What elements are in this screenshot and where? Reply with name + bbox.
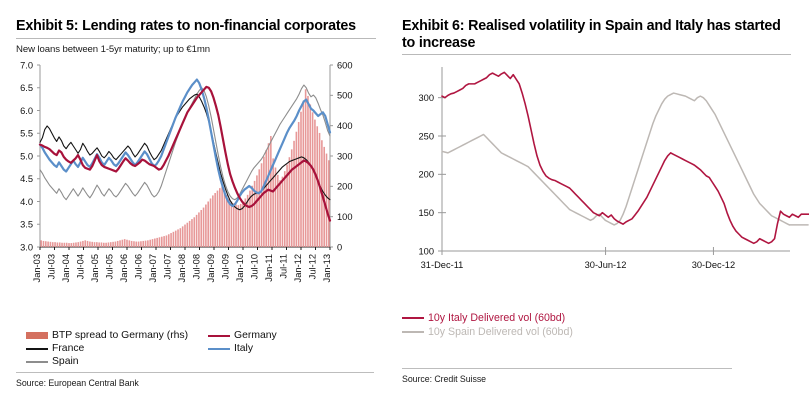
- svg-text:Jul-05: Jul-05: [105, 254, 115, 279]
- legend-swatch-germany: [208, 335, 230, 337]
- svg-text:200: 200: [418, 170, 434, 180]
- legend-swatch-spain-vol: [402, 331, 424, 333]
- legend-label-italy: Italy: [234, 343, 253, 354]
- svg-text:Jan-06: Jan-06: [119, 254, 129, 282]
- svg-text:Jan-10: Jan-10: [235, 254, 245, 282]
- exhibit-5-subtitle: New loans between 1-5yr maturity; up to …: [16, 44, 376, 55]
- svg-text:7.0: 7.0: [20, 60, 33, 70]
- legend-item-btp-spread: BTP spread to Germany (rhs): [26, 330, 208, 341]
- svg-text:Jul-09: Jul-09: [221, 254, 231, 279]
- svg-text:600: 600: [337, 60, 353, 70]
- panel-exhibit-5: Exhibit 5: Lending rates to non-financia…: [0, 0, 390, 401]
- svg-text:Jan-09: Jan-09: [206, 254, 216, 282]
- svg-text:Jul-04: Jul-04: [76, 254, 86, 279]
- legend-item-italy: Italy: [208, 343, 277, 354]
- exhibit-6-svg: 10015020025030031-Dec-1130-Jun-1230-Dec-…: [390, 55, 809, 305]
- svg-text:Jan-11: Jan-11: [264, 254, 274, 282]
- svg-text:0: 0: [337, 242, 342, 252]
- svg-text:3.5: 3.5: [20, 219, 33, 229]
- legend-label-germany: Germany: [234, 330, 277, 341]
- exhibit-6-legend: 10y Italy Delivered vol (60bd) 10y Spain…: [402, 312, 573, 340]
- exhibit-5-source-block: Source: European Central Bank: [16, 372, 374, 388]
- legend-item-italy-vol: 10y Italy Delivered vol (60bd): [402, 312, 573, 324]
- exhibit-5-chart: 3.03.54.04.55.05.56.06.57.00100200300400…: [0, 55, 390, 295]
- exhibit-5-svg: 3.03.54.04.55.05.56.06.57.00100200300400…: [0, 55, 390, 295]
- svg-text:400: 400: [337, 121, 353, 131]
- legend-item-france: France: [26, 343, 208, 354]
- svg-text:Jul-03: Jul-03: [47, 254, 57, 279]
- svg-text:300: 300: [337, 151, 353, 161]
- legend-label-spain: Spain: [52, 356, 79, 367]
- svg-text:3.0: 3.0: [20, 242, 33, 252]
- legend-label-btp-spread: BTP spread to Germany (rhs): [52, 330, 188, 341]
- exhibit-5-legend: BTP spread to Germany (rhs) France Spain: [26, 330, 277, 369]
- exhibit-6-title: Exhibit 6: Realised volatility in Spain …: [402, 18, 791, 51]
- svg-text:30-Dec-12: 30-Dec-12: [692, 260, 735, 270]
- svg-text:Jul-10: Jul-10: [250, 254, 260, 279]
- svg-text:6.5: 6.5: [20, 83, 33, 93]
- exhibit-5-source-rule: [16, 372, 374, 373]
- svg-text:Jan-05: Jan-05: [90, 254, 100, 282]
- svg-text:150: 150: [418, 208, 434, 218]
- exhibit-5-source: Source: European Central Bank: [16, 378, 374, 388]
- legend-item-spain: Spain: [26, 356, 208, 367]
- legend-item-germany: Germany: [208, 330, 277, 341]
- svg-text:4.0: 4.0: [20, 196, 33, 206]
- svg-text:5.5: 5.5: [20, 128, 33, 138]
- exhibit-page: Exhibit 5: Lending rates to non-financia…: [0, 0, 809, 401]
- exhibit-6-source-rule: [402, 368, 732, 369]
- legend-swatch-italy-vol: [402, 317, 424, 319]
- legend-swatch-spain: [26, 361, 48, 363]
- svg-text:100: 100: [418, 246, 434, 256]
- svg-text:Jan-07: Jan-07: [148, 254, 158, 282]
- svg-text:5.0: 5.0: [20, 151, 33, 161]
- svg-text:6.0: 6.0: [20, 105, 33, 115]
- svg-text:Jan-04: Jan-04: [61, 254, 71, 282]
- panel-exhibit-6: Exhibit 6: Realised volatility in Spain …: [390, 0, 809, 401]
- svg-text:300: 300: [418, 93, 434, 103]
- svg-text:Jan-03: Jan-03: [32, 254, 42, 282]
- svg-text:200: 200: [337, 181, 353, 191]
- legend-label-italy-vol: 10y Italy Delivered vol (60bd): [428, 312, 565, 324]
- legend-swatch-france: [26, 348, 48, 350]
- legend-label-spain-vol: 10y Spain Delivered vol (60bd): [428, 326, 573, 338]
- svg-text:Jul-11: Jul-11: [279, 254, 289, 279]
- legend-item-spain-vol: 10y Spain Delivered vol (60bd): [402, 326, 573, 338]
- svg-text:30-Jun-12: 30-Jun-12: [585, 260, 627, 270]
- svg-text:500: 500: [337, 90, 353, 100]
- svg-text:Jan-13: Jan-13: [322, 254, 332, 282]
- exhibit-6-source: Source: Credit Suisse: [402, 374, 732, 384]
- svg-text:4.5: 4.5: [20, 174, 33, 184]
- legend-swatch-italy: [208, 348, 230, 350]
- svg-text:Jul-07: Jul-07: [163, 254, 173, 279]
- svg-text:Jan-08: Jan-08: [177, 254, 187, 282]
- svg-text:Jul-08: Jul-08: [192, 254, 202, 279]
- exhibit-5-title-rule: [16, 38, 376, 39]
- svg-text:Jan-12: Jan-12: [293, 254, 303, 282]
- svg-text:Jul-12: Jul-12: [308, 254, 318, 279]
- svg-text:100: 100: [337, 212, 353, 222]
- svg-text:31-Dec-11: 31-Dec-11: [421, 260, 464, 270]
- legend-label-france: France: [52, 343, 84, 354]
- exhibit-6-chart: 10015020025030031-Dec-1130-Jun-1230-Dec-…: [390, 55, 809, 305]
- svg-text:250: 250: [418, 131, 434, 141]
- svg-text:Jul-06: Jul-06: [134, 254, 144, 279]
- exhibit-6-source-block: Source: Credit Suisse: [402, 368, 732, 384]
- legend-swatch-btp-spread: [26, 332, 48, 339]
- exhibit-5-title: Exhibit 5: Lending rates to non-financia…: [16, 18, 376, 35]
